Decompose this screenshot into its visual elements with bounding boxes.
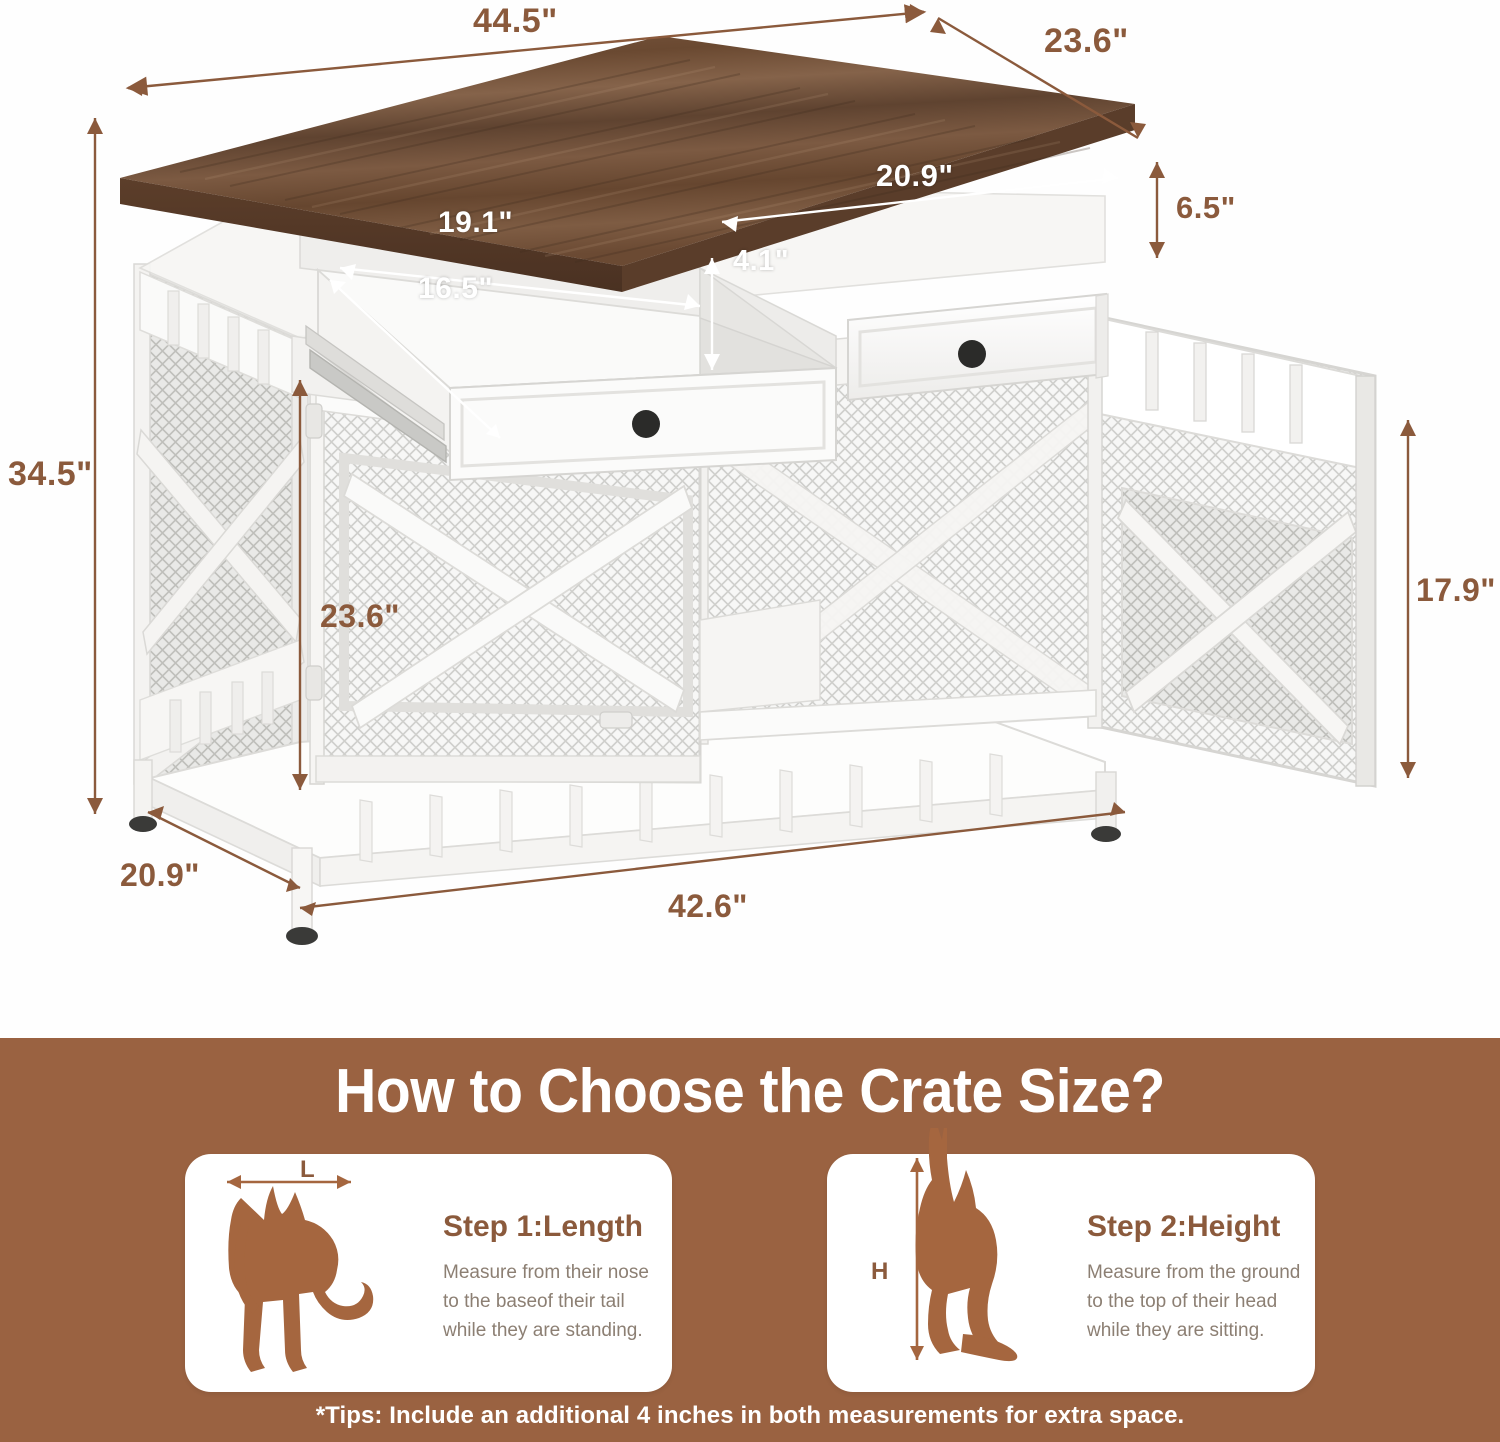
step-desc-line-3: while they are sitting. (1087, 1316, 1300, 1345)
dog-standing-icon (203, 1160, 443, 1386)
step-card-length: Step 1:Length Measure from their nose to… (185, 1154, 672, 1392)
dim-label-drawer-section-height: 6.5" (1176, 190, 1236, 226)
open-right-door (1088, 314, 1375, 786)
step-desc-line-1: Measure from the ground (1087, 1258, 1300, 1287)
dim-label-base-depth: 20.9" (120, 857, 200, 894)
step-desc-line-1: Measure from their nose (443, 1258, 649, 1287)
dim-label-drawer-inner-height: 4.1" (733, 245, 789, 278)
dim-label-drawer-inner-depth: 16.5" (418, 272, 493, 306)
step-heading: Step 2:Height (1087, 1210, 1300, 1244)
step-desc-line-2: to the baseof their tail (443, 1287, 649, 1316)
left-side-panel (134, 264, 308, 806)
product-illustration (0, 0, 1500, 1038)
height-marker-label: H (871, 1258, 888, 1286)
step-card-height: Step 2:Height Measure from the ground to… (827, 1154, 1315, 1392)
tips-note: *Tips: Include an additional 4 inches in… (0, 1402, 1500, 1430)
product-dimension-diagram: 44.5" 23.6" 20.9" 6.5" 19.1" 16.5" 4.1" … (0, 0, 1500, 1038)
length-marker-label: L (300, 1156, 315, 1184)
dim-label-overall-depth: 23.6" (1044, 22, 1129, 61)
dim-label-base-width: 42.6" (668, 888, 748, 925)
guide-title: How to Choose the Crate Size? (60, 1056, 1440, 1127)
dim-label-drawer-front-width: 20.9" (876, 158, 954, 194)
dim-label-door-height: 17.9" (1416, 572, 1496, 609)
dim-label-drawer-opening-width: 19.1" (438, 206, 513, 240)
dim-label-overall-width: 44.5" (473, 2, 558, 41)
step-desc-line-3: while they are standing. (443, 1316, 649, 1345)
dim-label-interior-height: 23.6" (320, 598, 400, 635)
dim-label-overall-height: 34.5" (8, 455, 93, 494)
step-desc-line-2: to the top of their head (1087, 1287, 1300, 1316)
crate-size-guide-banner: How to Choose the Crate Size? Step 1:Len… (0, 1038, 1500, 1442)
step-heading: Step 1:Length (443, 1210, 649, 1244)
